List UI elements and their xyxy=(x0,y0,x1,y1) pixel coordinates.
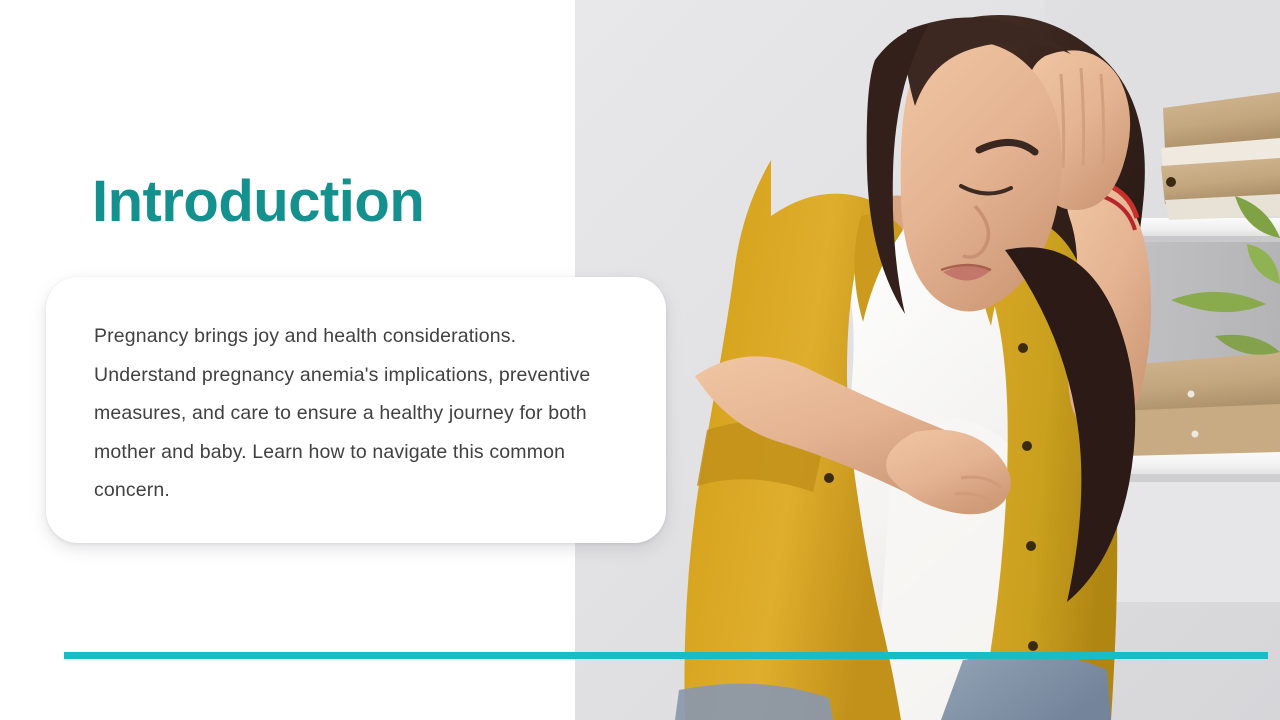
bottom-accent-rule xyxy=(64,652,1268,659)
photo-illustration xyxy=(575,0,1280,720)
slide-photo xyxy=(575,0,1280,720)
page-title: Introduction xyxy=(92,172,424,233)
intro-text-card: Pregnancy brings joy and health consider… xyxy=(46,277,666,543)
blue-jeans xyxy=(941,654,1111,720)
cardboard-boxes-upper xyxy=(1161,92,1280,220)
slide-root: Introduction Pregnancy brings joy and he… xyxy=(0,0,1280,720)
intro-body-text: Pregnancy brings joy and health consider… xyxy=(94,317,618,510)
